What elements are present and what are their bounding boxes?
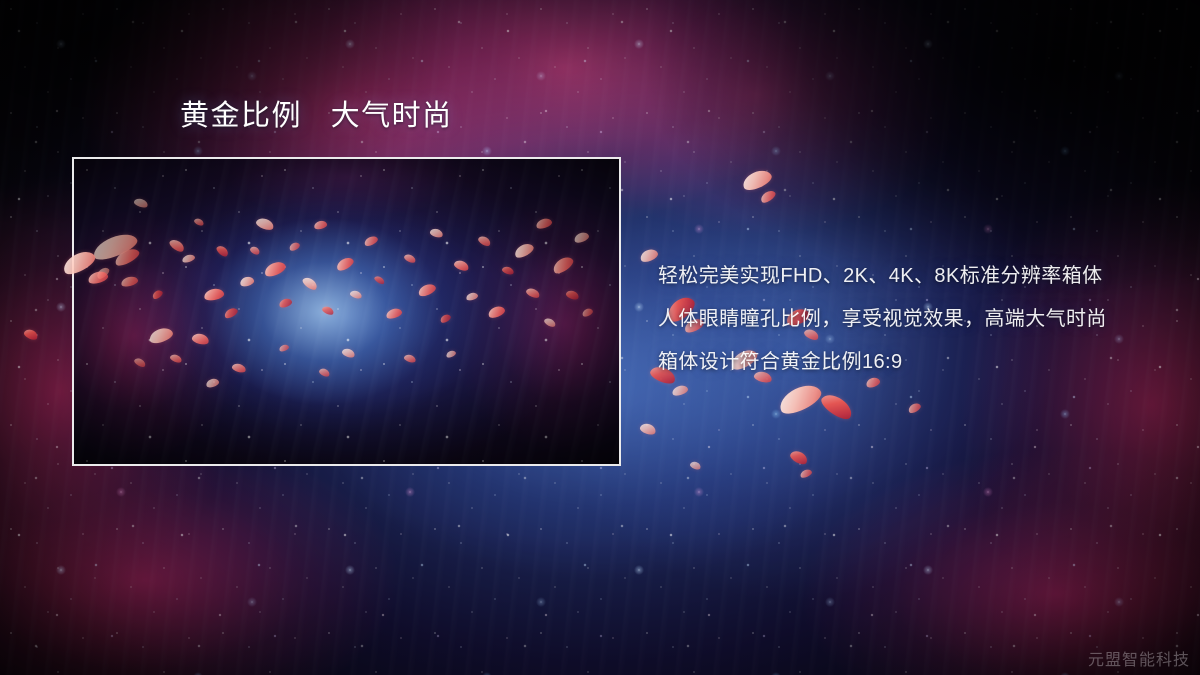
flower-petal bbox=[429, 227, 444, 238]
flower-petal bbox=[477, 234, 492, 247]
flower-petal bbox=[133, 197, 149, 209]
flower-petal bbox=[581, 307, 594, 318]
flower-petal bbox=[543, 317, 557, 329]
flower-petal bbox=[689, 460, 702, 471]
feature-line-1: 轻松完美实现FHD、2K、4K、8K标准分辨率箱体 bbox=[658, 255, 1178, 298]
flower-petal bbox=[313, 220, 328, 231]
flower-petal bbox=[95, 265, 111, 280]
flower-petal bbox=[263, 259, 288, 279]
flower-petal bbox=[551, 254, 576, 276]
feature-description-block: 轻松完美实现FHD、2K、4K、8K标准分辨率箱体 人体眼睛瞳孔比例，享受视觉效… bbox=[658, 255, 1178, 384]
flower-petal bbox=[133, 356, 147, 368]
flower-petal bbox=[439, 313, 452, 325]
flower-petal bbox=[349, 289, 363, 299]
flower-petal bbox=[403, 353, 417, 363]
flower-petal bbox=[363, 234, 379, 247]
flower-petal bbox=[278, 297, 293, 309]
flower-petal bbox=[203, 287, 225, 302]
flower-petal bbox=[23, 328, 39, 342]
panel-petal-cluster bbox=[74, 159, 619, 464]
flower-petal bbox=[818, 390, 856, 423]
feature-line-2: 人体眼睛瞳孔比例，享受视觉效果，高端大气时尚 bbox=[658, 298, 1178, 341]
flower-petal bbox=[255, 216, 275, 232]
flower-petal bbox=[318, 367, 331, 378]
flower-petal bbox=[278, 343, 290, 352]
flower-petal bbox=[525, 286, 541, 299]
flower-petal bbox=[799, 468, 813, 479]
flower-petal bbox=[148, 325, 175, 345]
flower-petal bbox=[639, 247, 660, 264]
flower-petal bbox=[191, 332, 210, 346]
flower-petal bbox=[465, 291, 478, 301]
flower-petal bbox=[249, 245, 261, 256]
presentation-slide: 黄金比例 大气时尚 轻松完美实现FHD、2K、4K、8K标准分辨率箱体 人体眼睛… bbox=[0, 0, 1200, 675]
flower-petal bbox=[639, 422, 657, 436]
company-watermark: 元盟智能科技 bbox=[1088, 646, 1190, 670]
flower-petal bbox=[151, 288, 164, 300]
flower-petal bbox=[321, 305, 335, 316]
flower-petal bbox=[417, 282, 438, 298]
feature-line-3: 箱体设计符合黄金比例16:9 bbox=[658, 341, 1178, 384]
flower-petal bbox=[223, 306, 239, 320]
flower-petal bbox=[90, 229, 140, 264]
flower-petal bbox=[487, 304, 507, 320]
flower-petal bbox=[775, 379, 824, 418]
flower-petal bbox=[169, 353, 183, 364]
flower-petal bbox=[907, 401, 922, 414]
flower-petal bbox=[215, 244, 230, 258]
flower-petal bbox=[573, 231, 590, 245]
panel-starfield bbox=[74, 159, 619, 464]
flower-petal bbox=[535, 217, 553, 231]
flower-petal bbox=[168, 237, 186, 253]
flower-petal bbox=[788, 448, 809, 466]
flower-petal bbox=[403, 253, 417, 265]
flower-petal bbox=[671, 384, 689, 398]
slide-title: 黄金比例 大气时尚 bbox=[180, 100, 453, 133]
flower-petal bbox=[231, 362, 247, 374]
flower-petal bbox=[113, 246, 142, 269]
flower-petal bbox=[341, 347, 356, 359]
flower-petal bbox=[239, 275, 255, 288]
flower-petal bbox=[501, 265, 515, 275]
flower-petal bbox=[288, 241, 301, 252]
flower-petal bbox=[301, 275, 319, 292]
flower-petal bbox=[120, 275, 139, 288]
flower-petal bbox=[565, 289, 580, 301]
flower-petal bbox=[335, 255, 356, 273]
flower-petal bbox=[740, 167, 774, 194]
flower-petal bbox=[181, 253, 196, 264]
panel-filaments bbox=[74, 159, 619, 464]
flower-petal bbox=[453, 259, 470, 273]
framed-image-panel bbox=[72, 157, 621, 466]
flower-petal bbox=[205, 377, 220, 389]
flower-petal bbox=[385, 307, 403, 321]
flower-petal bbox=[759, 188, 777, 204]
panel-vignette bbox=[74, 159, 619, 464]
flower-petal bbox=[193, 217, 205, 227]
flower-petal bbox=[445, 349, 457, 359]
flower-petal bbox=[373, 275, 386, 286]
flower-petal bbox=[513, 241, 536, 260]
panel-nebula-layer bbox=[74, 159, 619, 464]
